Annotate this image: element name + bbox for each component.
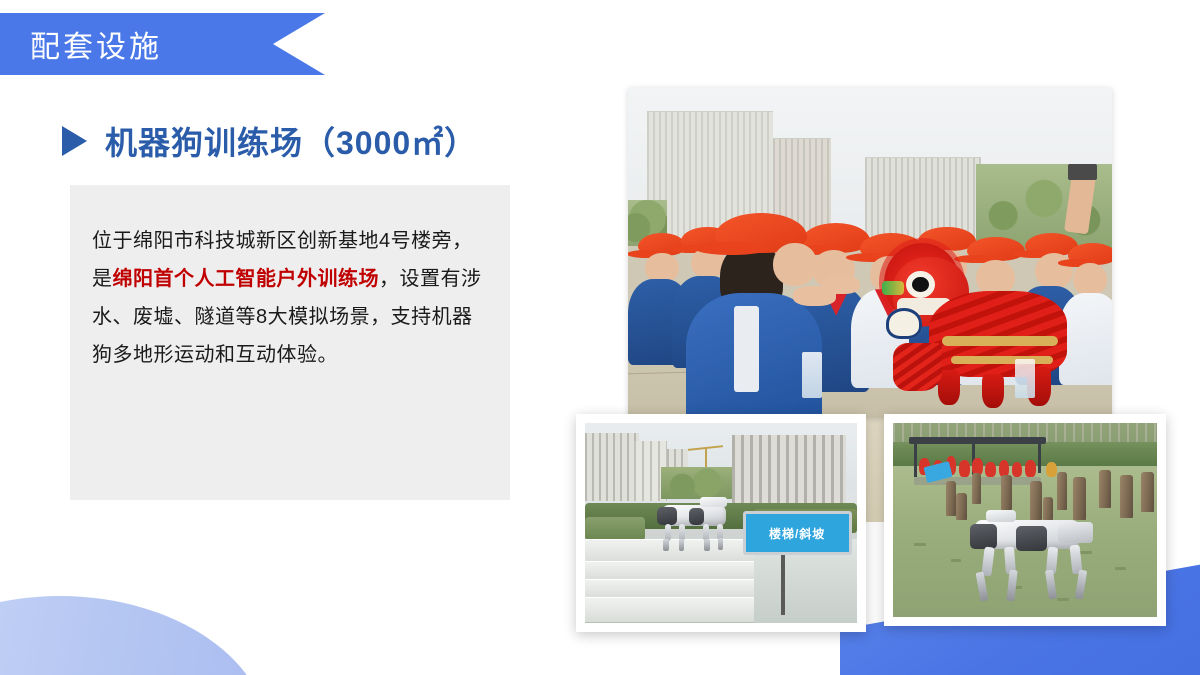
- left-content-column: 机器狗训练场（3000㎡） 位于绵阳市科技城新区创新基地4号楼旁，是绵阳首个人工…: [0, 0, 560, 675]
- triangle-right-icon: [62, 126, 87, 156]
- section-heading: 机器狗训练场（3000㎡）: [105, 118, 477, 164]
- description-highlight: 绵阳首个人工智能户外训练场: [113, 268, 380, 290]
- robot-dog-on-stairs-photo: 楼梯/斜坡: [576, 414, 866, 632]
- section-heading-row: 机器狗训练场（3000㎡）: [62, 118, 477, 164]
- banner-title: 配套设施: [30, 22, 162, 66]
- lion-dance-with-students-photo: [628, 88, 1112, 418]
- robot-dog-in-field-photo: [884, 414, 1166, 626]
- description-text: 位于绵阳市科技城新区创新基地4号楼旁，是绵阳首个人工智能户外训练场，设置有涉水、…: [92, 222, 492, 374]
- stairs-slope-sign-label: 楼梯/斜坡: [769, 525, 825, 542]
- stairs-slope-sign: 楼梯/斜坡: [743, 511, 852, 555]
